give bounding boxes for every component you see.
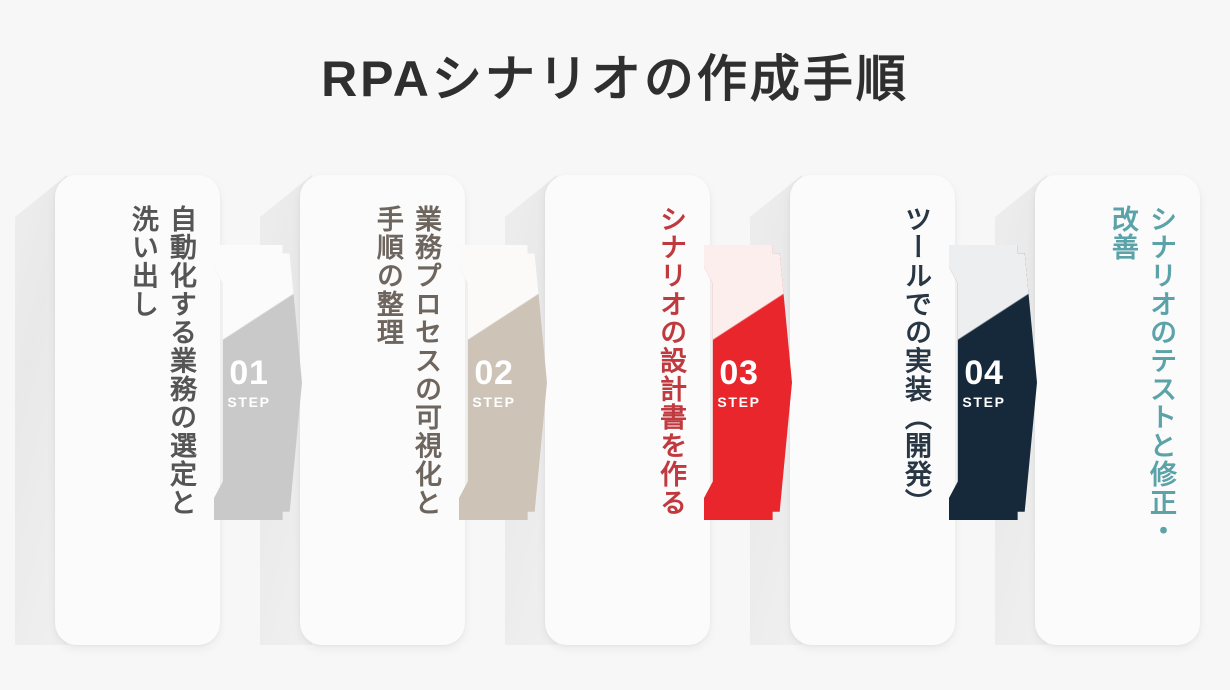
step-word-2: STEP	[472, 395, 515, 409]
step-card-3[interactable]: シナリオの設計書を作る	[545, 175, 710, 645]
step-number-1: 01	[227, 356, 270, 390]
step-flow: 自動化する業務の選定と洗い出し01STEP業務プロセスの可視化と手順の整理02S…	[0, 0, 1230, 690]
step-arrow-label-4: 04STEP	[962, 356, 1005, 409]
step-arrow-3: 03STEP	[704, 245, 792, 520]
step-card-4[interactable]: ツールでの実装（開発）	[790, 175, 955, 645]
step-word-3: STEP	[717, 395, 760, 409]
step-arrow-label-3: 03STEP	[717, 356, 760, 409]
step-arrow-4: 04STEP	[949, 245, 1037, 520]
step-card-3-line-1: シナリオの設計書を作る	[652, 205, 688, 517]
step-card-1[interactable]: 自動化する業務の選定と洗い出し	[55, 175, 220, 645]
step-card-1-line-2: 洗い出し	[124, 205, 160, 318]
step-arrow-label-2: 02STEP	[472, 356, 515, 409]
step-card-text-4: ツールでの実装（開発）	[790, 175, 955, 645]
step-card-text-5: シナリオのテストと修正・改善	[1035, 175, 1200, 645]
step-card-text-2: 業務プロセスの可視化と手順の整理	[300, 175, 465, 645]
step-word-4: STEP	[962, 395, 1005, 409]
step-arrow-1: 01STEP	[214, 245, 302, 520]
step-card-text-3: シナリオの設計書を作る	[545, 175, 710, 645]
step-card-text-1: 自動化する業務の選定と洗い出し	[55, 175, 220, 645]
infographic-canvas: RPAシナリオの作成手順 自動化する業務の選定と洗い出し01STEP業務プロセス…	[0, 0, 1230, 690]
step-card-2[interactable]: 業務プロセスの可視化と手順の整理	[300, 175, 465, 645]
step-number-2: 02	[472, 356, 515, 390]
step-number-4: 04	[962, 356, 1005, 390]
step-card-5[interactable]: シナリオのテストと修正・改善	[1035, 175, 1200, 645]
step-card-5-line-1: シナリオのテストと修正・	[1142, 205, 1178, 545]
step-card-1-line-1: 自動化する業務の選定と	[162, 205, 198, 517]
step-arrow-label-1: 01STEP	[227, 356, 270, 409]
step-number-3: 03	[717, 356, 760, 390]
step-card-2-line-1: 業務プロセスの可視化と	[407, 205, 443, 517]
step-word-1: STEP	[227, 395, 270, 409]
step-card-5-line-2: 改善	[1104, 205, 1140, 262]
step-arrow-2: 02STEP	[459, 245, 547, 520]
step-card-4-line-1: ツールでの実装（開発）	[897, 205, 933, 517]
step-card-2-line-2: 手順の整理	[369, 205, 405, 347]
